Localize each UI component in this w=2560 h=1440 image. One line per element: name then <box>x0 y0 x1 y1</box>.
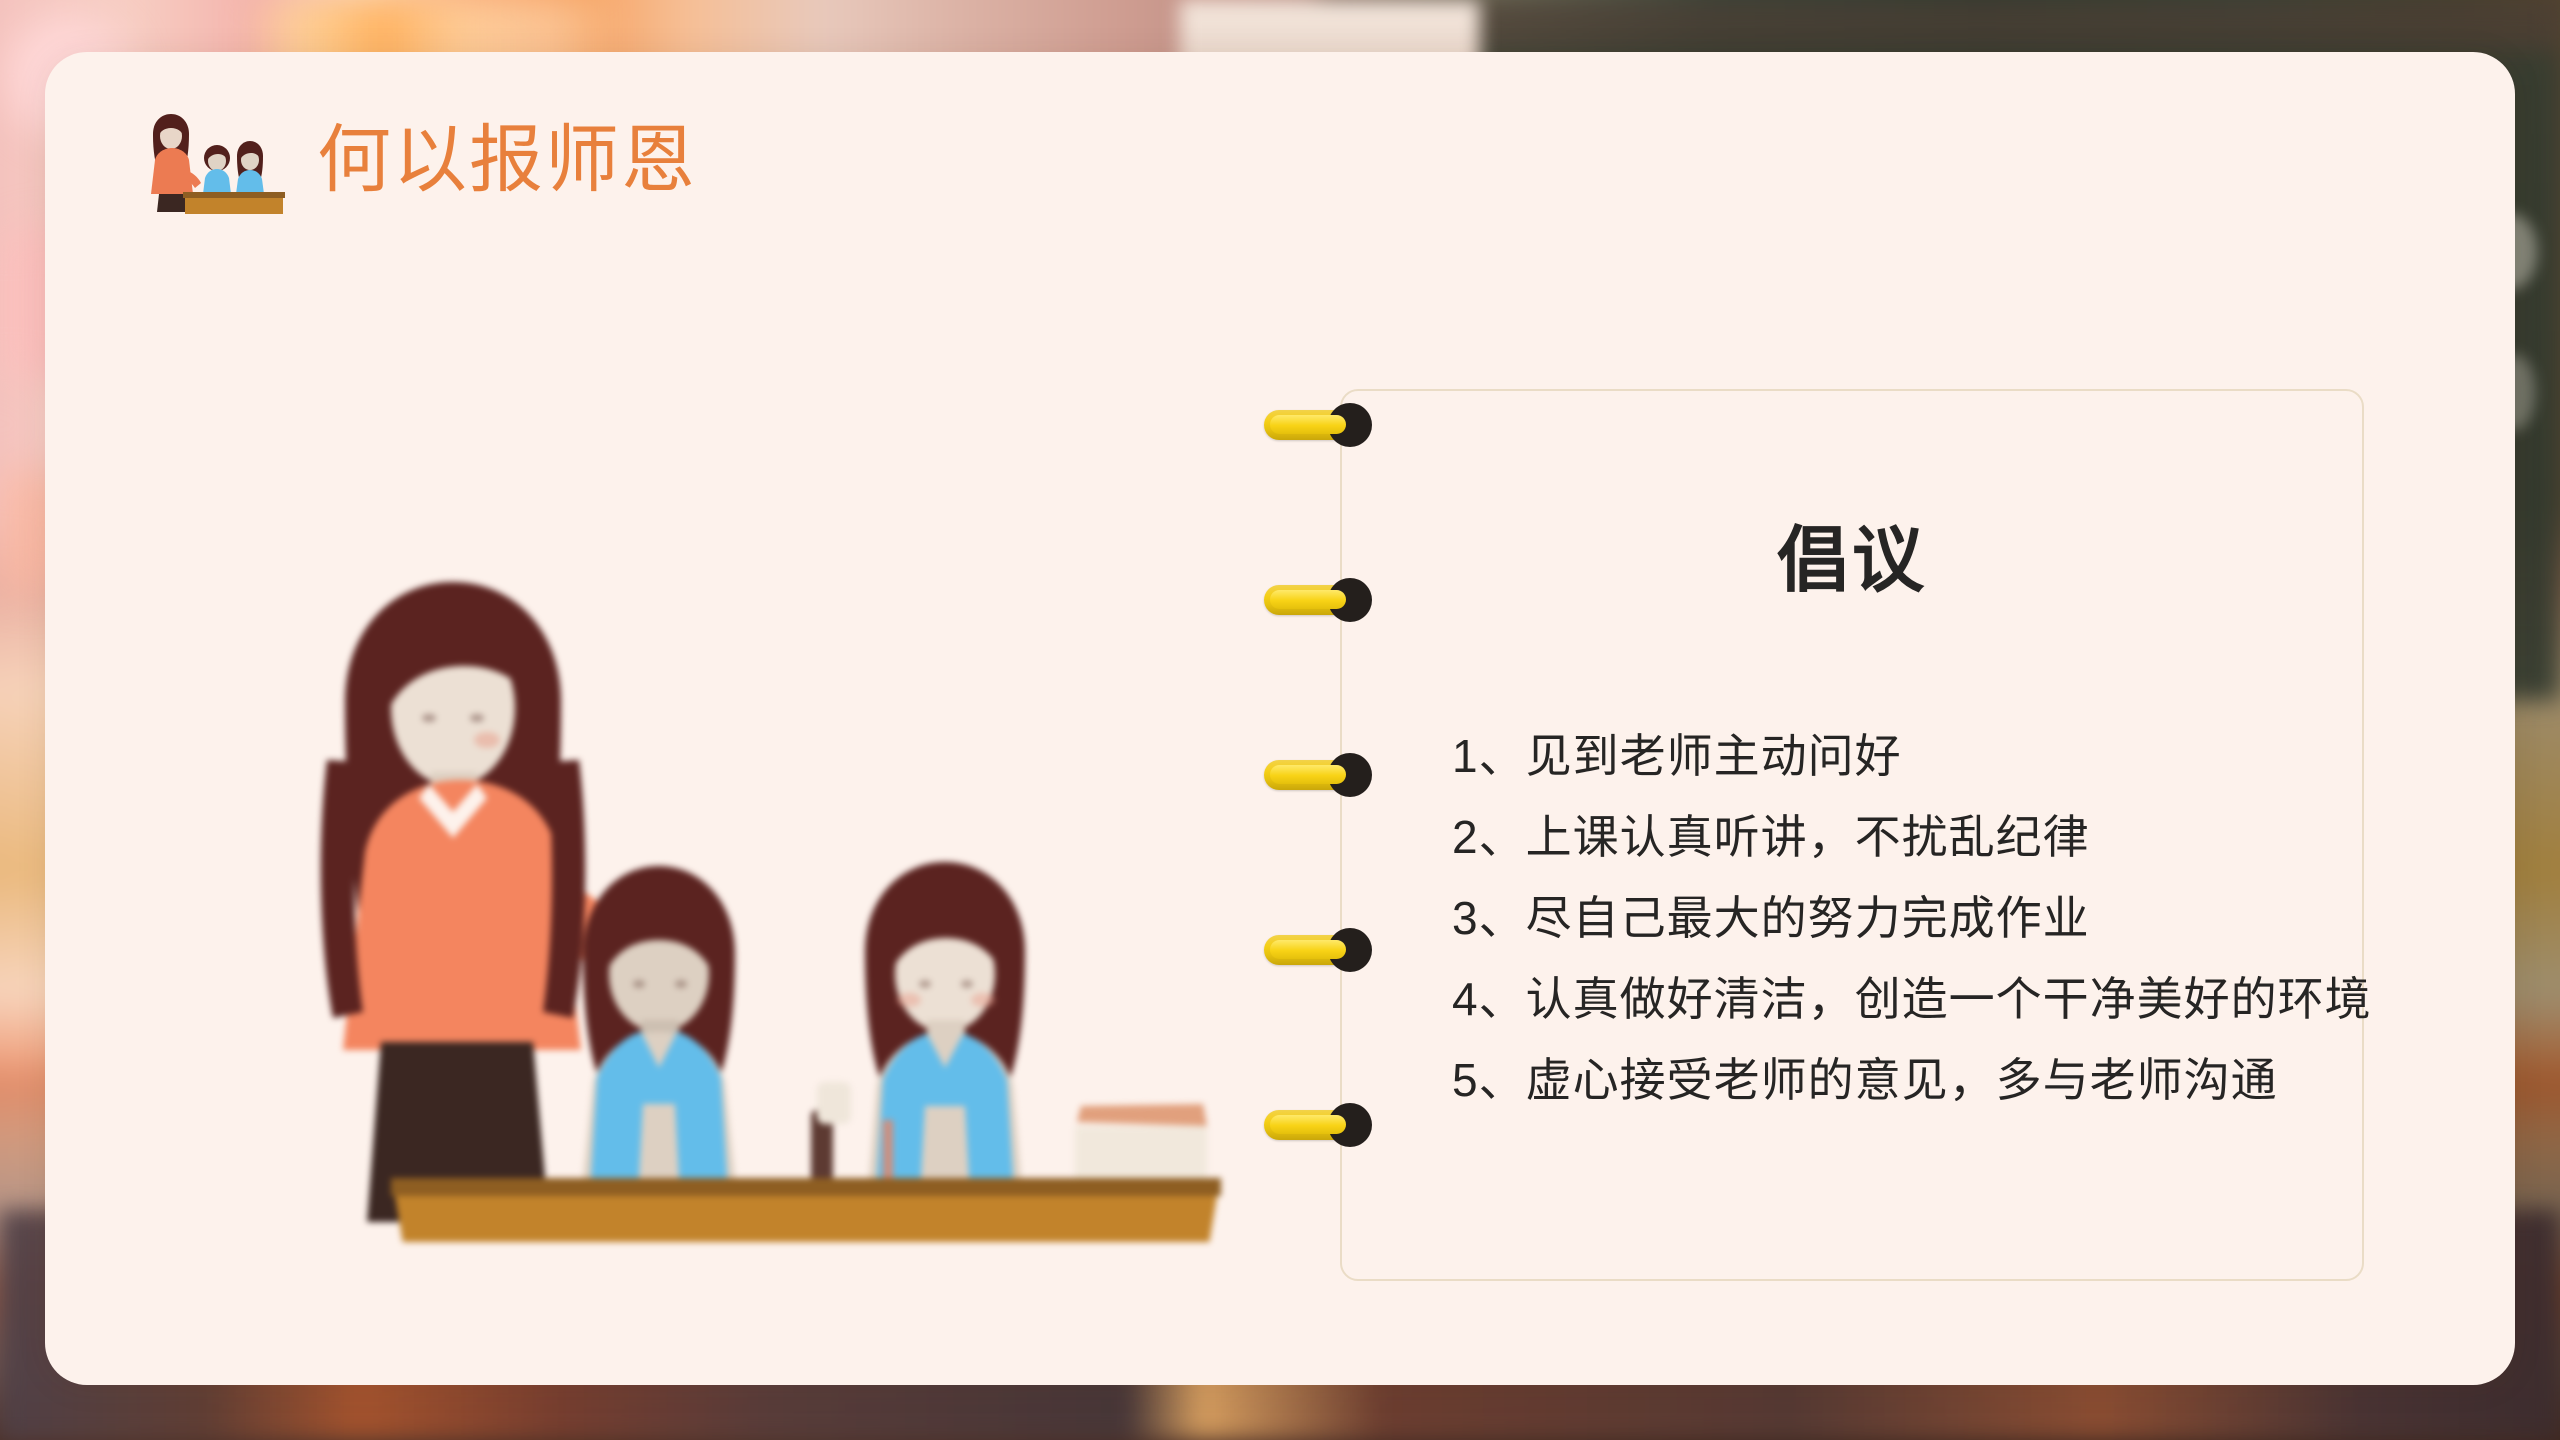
list-item: 4、认真做好清洁，创造一个干净美好的环境 <box>1452 959 2338 1040</box>
proposal-list: 1、见到老师主动问好 2、上课认真听讲，不扰乱纪律 3、尽自己最大的努力完成作业… <box>1452 716 2338 1121</box>
content-card: 何以报师恩 <box>45 52 2515 1385</box>
list-item: 5、虚心接受老师的意见，多与老师沟通 <box>1452 1040 2338 1121</box>
slide-header: 何以报师恩 <box>125 100 697 220</box>
notepad-heading: 倡议 <box>1342 501 2362 606</box>
spiral-notepad-panel: 倡议 1、见到老师主动问好 2、上课认真听讲，不扰乱纪律 3、尽自己最大的努力完… <box>1340 389 2364 1281</box>
teacher-with-two-students-at-desk-illustration <box>215 522 1275 1242</box>
teacher-and-students-icon <box>125 100 285 220</box>
list-item: 1、见到老师主动问好 <box>1452 716 2338 797</box>
page-title: 何以报师恩 <box>317 123 697 197</box>
list-item: 2、上课认真听讲，不扰乱纪律 <box>1452 797 2338 878</box>
slide-stage: 何以报师恩 <box>0 0 2560 1440</box>
list-item: 3、尽自己最大的努力完成作业 <box>1452 878 2338 959</box>
